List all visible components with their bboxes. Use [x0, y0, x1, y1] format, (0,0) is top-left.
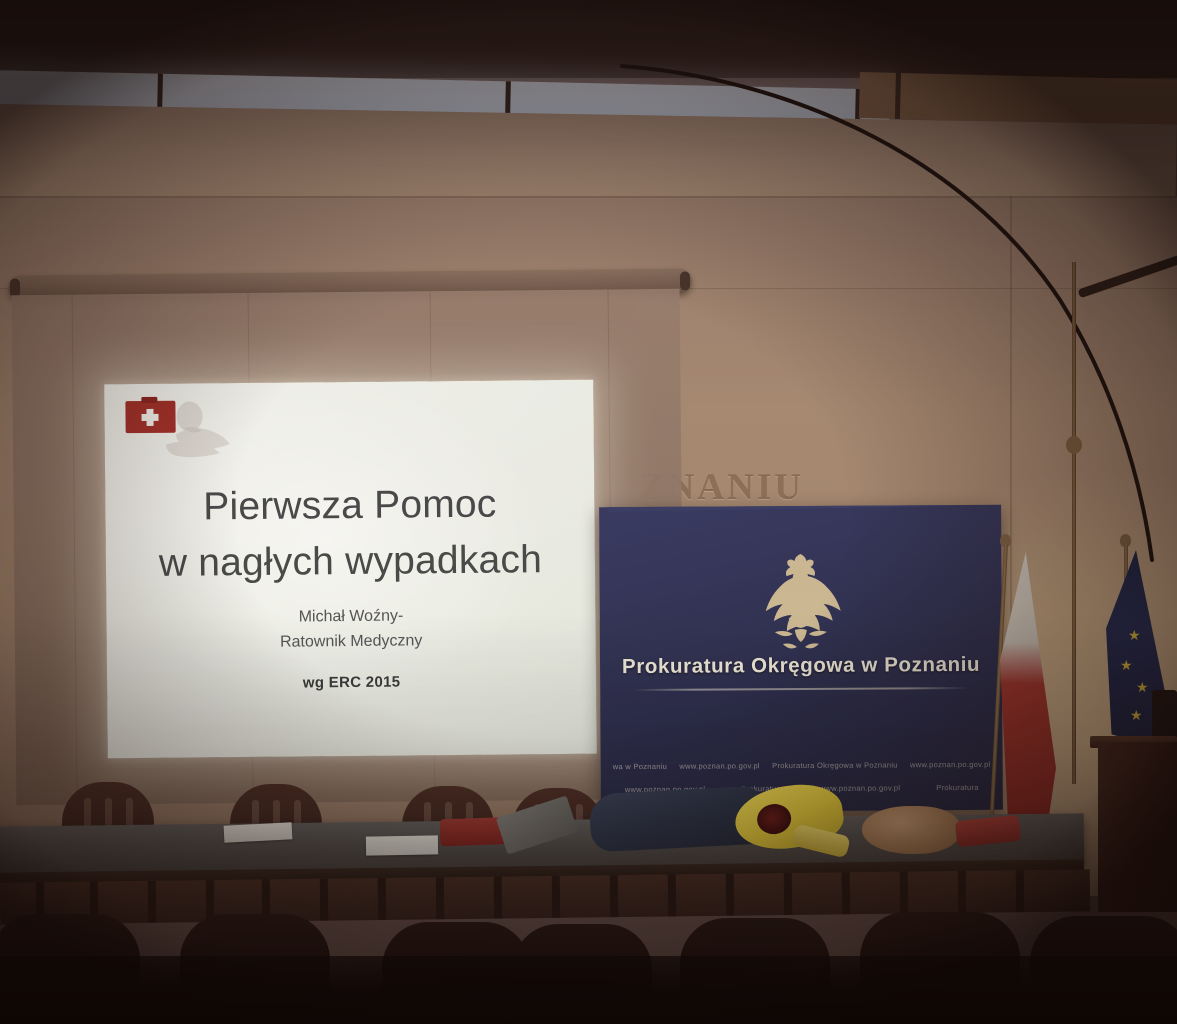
manikin-mouth: [755, 802, 793, 836]
banner-divider: [634, 687, 968, 691]
ceiling-dark-surface: [0, 0, 1177, 78]
eu-star-icon: ★: [1130, 708, 1143, 722]
slide-standard-note: wg ERC 2015: [107, 672, 596, 694]
first-aid-kit-icon: [123, 394, 232, 465]
wall-rod: [1072, 262, 1076, 784]
presentation-slide: Pierwsza Pomoc w nagłych wypadkach Micha…: [104, 380, 597, 759]
slide-title-line1: Pierwsza Pomoc: [105, 476, 595, 537]
slide-title: Pierwsza Pomoc w nagłych wypadkach: [105, 476, 595, 593]
brown-bag: [862, 806, 960, 854]
paper-sheet: [224, 822, 293, 843]
wall-rod-knob: [1066, 436, 1082, 454]
banner-title: Prokuratura Okręgowa w Poznaniu: [600, 653, 1002, 679]
slide-subtitle: Michał Woźny- Ratownik Medyczny: [106, 602, 595, 657]
foreground-shadow: [0, 956, 1177, 1024]
ceiling-panel-right: [859, 72, 1177, 126]
eu-star-icon: ★: [1120, 658, 1133, 672]
conference-room-photo: ZNANIU: [0, 0, 1177, 1024]
banner-microtext-row-1: wa w Poznaniu www.poznan.po.gov.pl Proku…: [601, 760, 1003, 771]
podium-object: [1152, 690, 1177, 742]
eu-star-icon: ★: [1128, 628, 1141, 642]
polish-eagle-emblem: [740, 548, 861, 671]
prosecutor-office-banner: Prokuratura Okręgowa w Poznaniu wa w Poz…: [599, 505, 1003, 812]
slide-role: Ratownik Medyczny: [107, 627, 596, 657]
paper-sheet: [366, 835, 438, 855]
slide-title-line2: w nagłych wypadkach: [106, 532, 596, 593]
eu-star-icon: ★: [1136, 680, 1149, 694]
